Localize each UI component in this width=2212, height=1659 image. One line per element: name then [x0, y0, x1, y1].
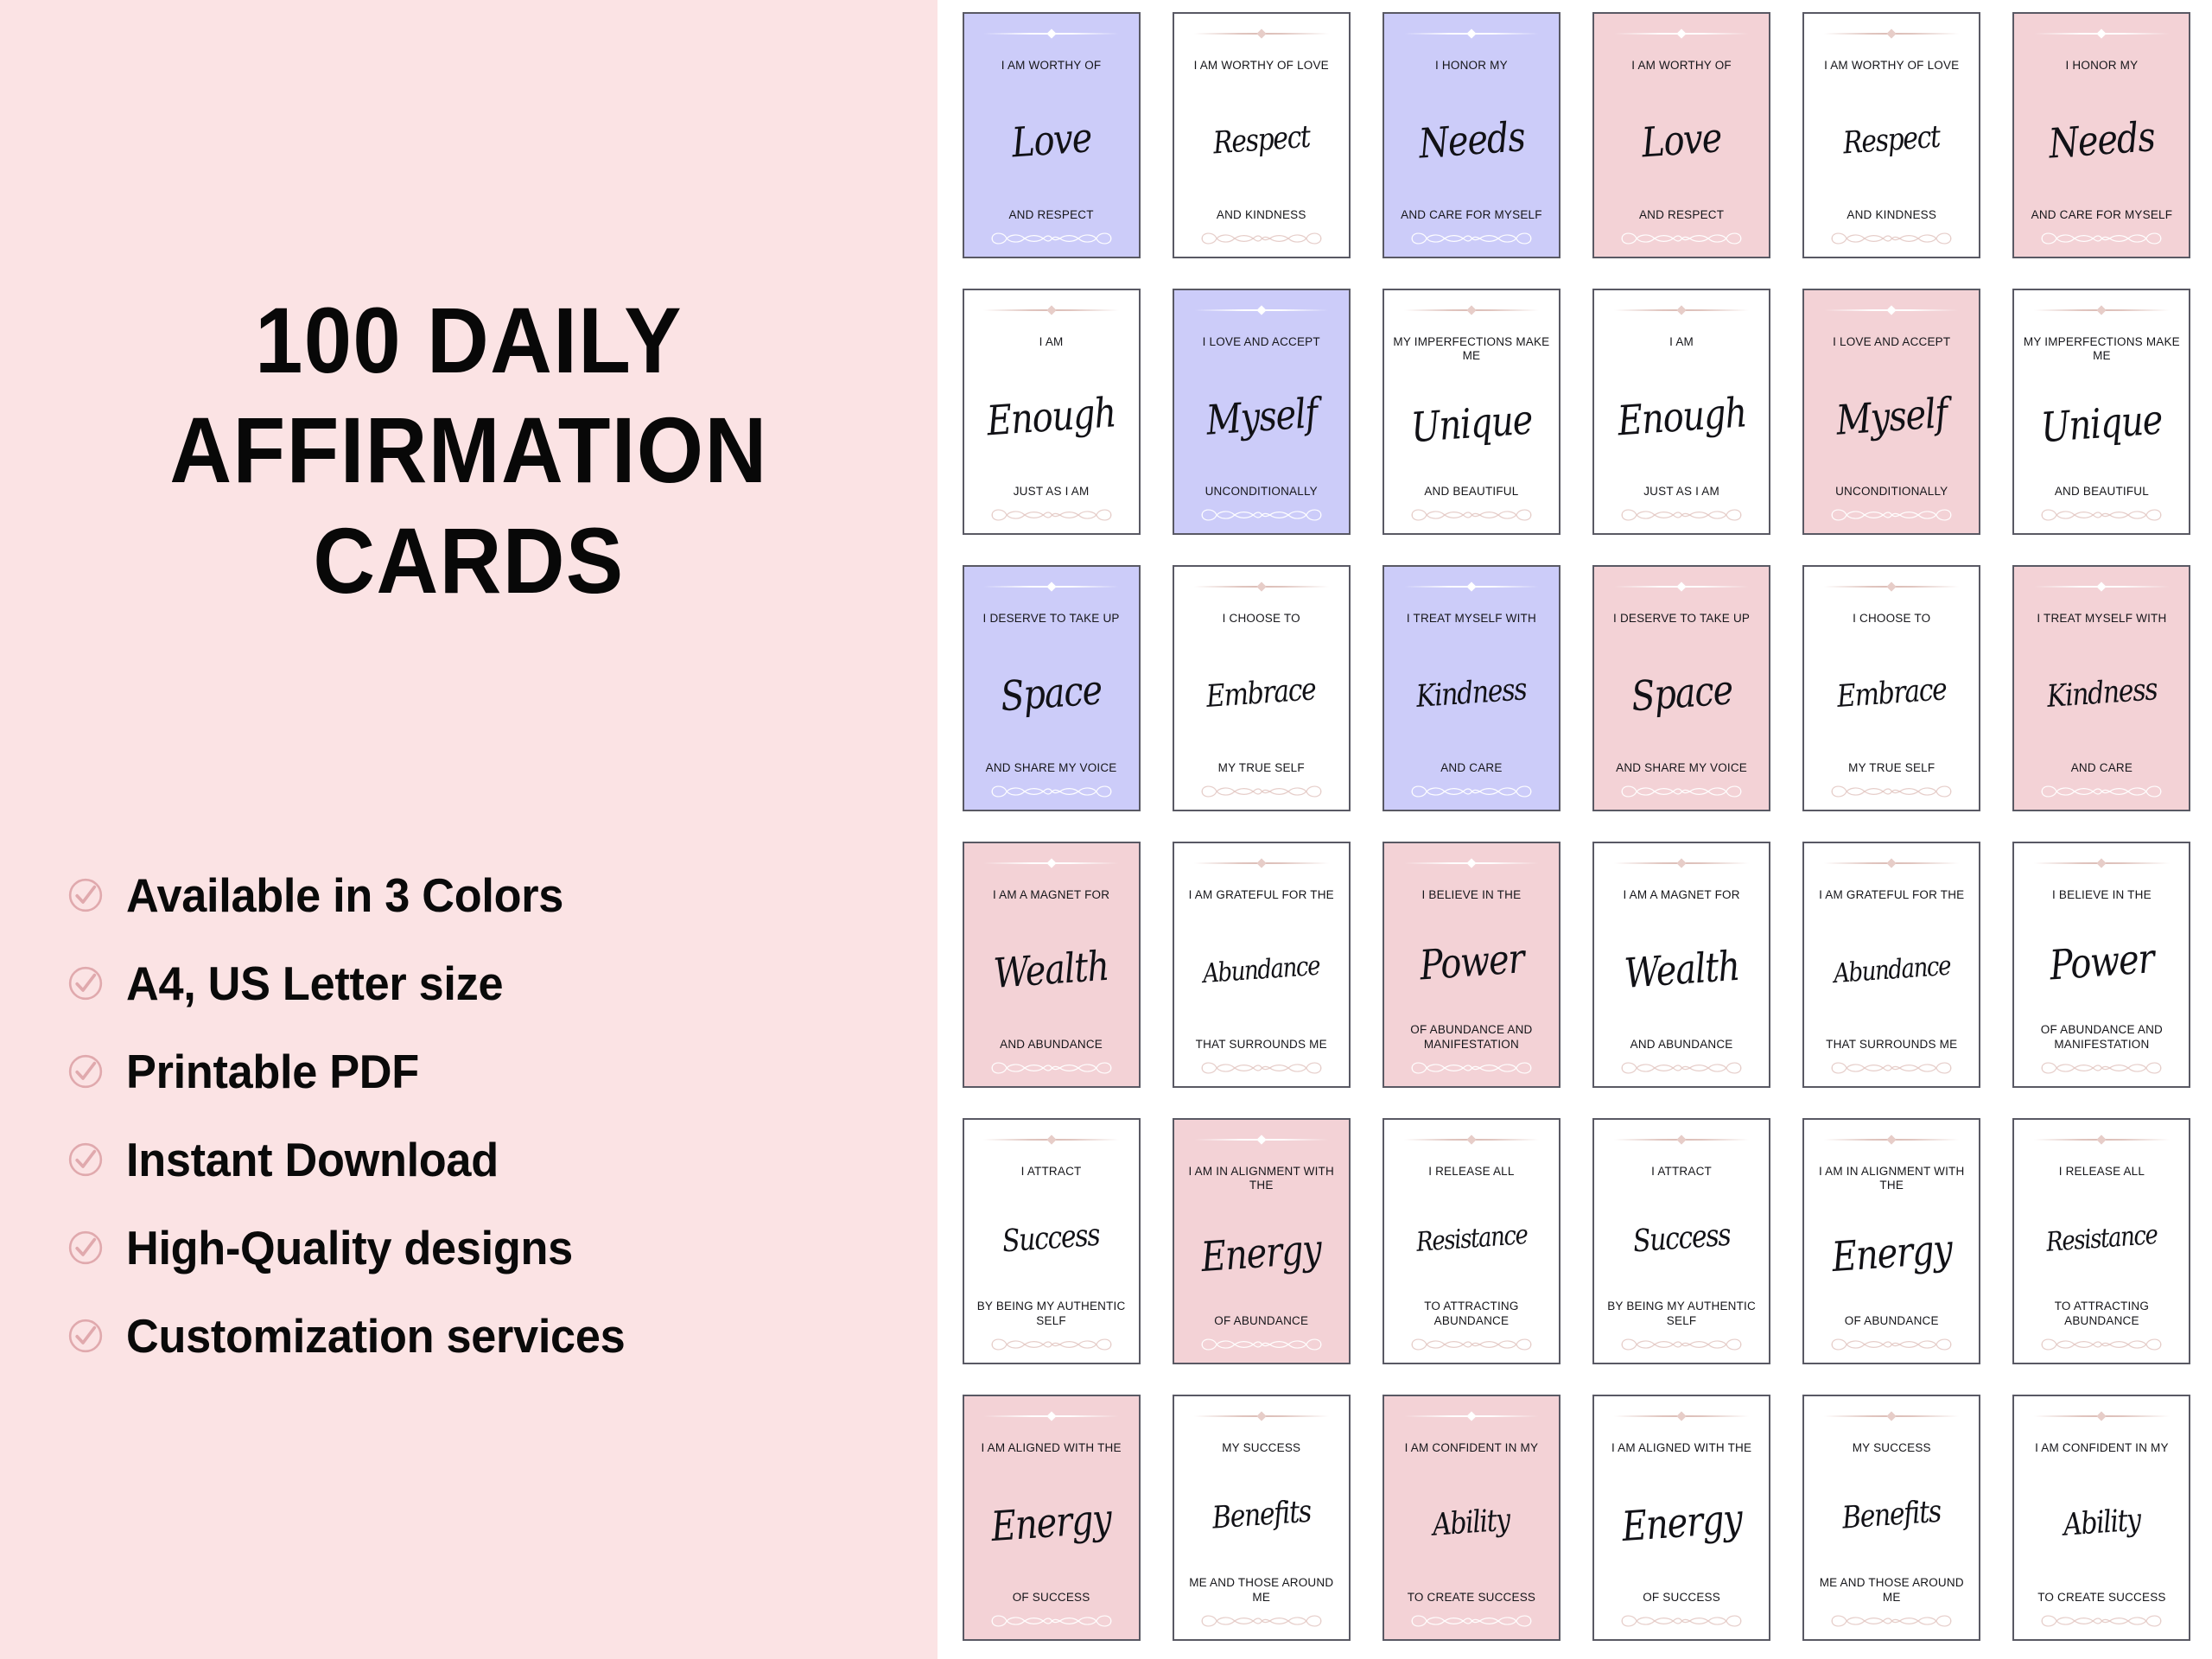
card-bottom-text: JUST AS I AM — [1601, 485, 1762, 499]
card-top-text: I AM — [971, 335, 1132, 349]
affirmation-card[interactable]: I DESERVE TO TAKE UPSpaceAND SHARE MY VO… — [1592, 565, 1770, 811]
card-top-text: I DESERVE TO TAKE UP — [971, 612, 1132, 626]
card-script-word-wrap: Needs — [1391, 73, 1552, 207]
flourish-ornament-icon — [1192, 780, 1331, 803]
page-title: 100 DAILY AFFIRMATION CARDS — [37, 285, 899, 615]
card-bottom-text: OF SUCCESS — [1601, 1591, 1762, 1605]
card-script-word-wrap: Kindness — [1391, 626, 1552, 760]
card-top-divider — [1614, 857, 1749, 869]
flourish-ornament-icon — [1192, 1333, 1331, 1356]
card-script-word-wrap: Energy — [971, 1455, 1132, 1590]
card-bottom-text: AND ABUNDANCE — [971, 1038, 1132, 1052]
flourish-ornament-icon — [1612, 1610, 1751, 1632]
card-script-word: Ability — [2063, 1505, 2141, 1541]
affirmation-card[interactable]: I AM A MAGNET FORWealthAND ABUNDANCE — [963, 842, 1141, 1088]
card-script-word-wrap: Respect — [1181, 73, 1342, 207]
affirmation-card[interactable]: I AM WORTHY OFLoveAND RESPECT — [963, 12, 1141, 258]
check-circle-icon — [67, 877, 104, 913]
diamond-icon — [1887, 582, 1897, 591]
card-top-text: I AM A MAGNET FOR — [1601, 888, 1762, 902]
card-script-word-wrap: Unique — [2021, 364, 2182, 485]
card-script-word: Unique — [1409, 399, 1533, 448]
flourish-ornament-icon — [982, 1610, 1121, 1632]
feature-item-label: High-Quality designs — [126, 1224, 573, 1272]
affirmation-card[interactable]: I AM CONFIDENT IN MYAbilityTO CREATE SUC… — [2012, 1395, 2190, 1641]
card-bottom-text: TO ATTRACTING ABUNDANCE — [2021, 1300, 2182, 1328]
diamond-icon — [1887, 29, 1897, 38]
card-script-word-wrap: Myself — [1181, 349, 1342, 484]
card-script-word: Myself — [1205, 392, 1318, 441]
diamond-icon — [1466, 1135, 1476, 1144]
card-top-divider — [1614, 304, 1749, 316]
flourish-ornament-icon — [1402, 1057, 1541, 1079]
card-top-text: MY IMPERFECTIONS MAKE ME — [1391, 335, 1552, 364]
diamond-icon — [1046, 1135, 1056, 1144]
card-bottom-text: UNCONDITIONALLY — [1811, 485, 1972, 499]
flourish-ornament-icon — [982, 227, 1121, 250]
card-script-word: Ability — [1432, 1505, 1510, 1541]
flourish-ornament-icon — [1612, 780, 1751, 803]
card-bottom-text: OF ABUNDANCE AND MANIFESTATION — [1391, 1023, 1552, 1052]
card-top-divider — [1824, 581, 1959, 593]
card-top-divider — [2034, 581, 2169, 593]
diamond-icon — [1256, 305, 1266, 315]
card-script-word: Wealth — [993, 945, 1110, 994]
card-bottom-text: OF SUCCESS — [971, 1591, 1132, 1605]
card-top-divider — [2034, 857, 2169, 869]
card-bottom-text: ME AND THOSE AROUND ME — [1811, 1576, 1972, 1605]
card-script-word: Kindness — [2046, 674, 2158, 712]
affirmation-card[interactable]: I AM GRATEFUL FOR THEAbundanceTHAT SURRO… — [1173, 842, 1351, 1088]
affirmation-card[interactable]: I RELEASE ALLResistanceTO ATTRACTING ABU… — [1382, 1118, 1560, 1364]
card-top-text: I CHOOSE TO — [1181, 612, 1342, 626]
affirmation-card[interactable]: I AM GRATEFUL FOR THEAbundanceTHAT SURRO… — [1802, 842, 1980, 1088]
card-script-word: Respect — [1212, 122, 1311, 159]
card-bottom-text: AND CARE — [2021, 761, 2182, 775]
flourish-ornament-icon — [1402, 780, 1541, 803]
card-top-text: I RELEASE ALL — [1391, 1165, 1552, 1179]
card-script-word-wrap: Space — [971, 626, 1132, 760]
card-top-text: I HONOR MY — [2021, 59, 2182, 73]
card-top-text: MY SUCCESS — [1811, 1441, 1972, 1455]
card-top-text: I AM GRATEFUL FOR THE — [1811, 888, 1972, 902]
card-script-word-wrap: Myself — [1811, 349, 1972, 484]
card-top-text: I RELEASE ALL — [2021, 1165, 2182, 1179]
card-top-divider — [2034, 304, 2169, 316]
check-circle-icon — [67, 1053, 104, 1090]
flourish-ornament-icon — [1612, 1057, 1751, 1079]
affirmation-card[interactable]: I LOVE AND ACCEPTMyselfUNCONDITIONALLY — [1173, 289, 1351, 535]
affirmation-card[interactable]: I AM ALIGNED WITH THEEnergyOF SUCCESS — [963, 1395, 1141, 1641]
affirmation-card[interactable]: I AM A MAGNET FORWealthAND ABUNDANCE — [1592, 842, 1770, 1088]
diamond-icon — [1466, 29, 1476, 38]
flourish-ornament-icon — [1612, 227, 1751, 250]
card-top-divider — [1404, 304, 1539, 316]
card-top-text: I ATTRACT — [971, 1165, 1132, 1179]
affirmation-card[interactable]: MY SUCCESSBenefitsME AND THOSE AROUND ME — [1173, 1395, 1351, 1641]
card-top-divider — [2034, 28, 2169, 40]
card-bottom-text: JUST AS I AM — [971, 485, 1132, 499]
card-script-word: Myself — [1835, 392, 1948, 441]
flourish-ornament-icon — [982, 504, 1121, 526]
card-top-divider — [2034, 1410, 2169, 1422]
card-top-divider — [1824, 1134, 1959, 1146]
card-script-word: Energy — [1620, 1498, 1743, 1548]
card-script-word: Benefits — [1211, 1497, 1312, 1535]
card-script-word-wrap: Power — [2021, 902, 2182, 1023]
card-script-word-wrap: Power — [1391, 902, 1552, 1023]
card-script-word-wrap: Success — [1601, 1179, 1762, 1300]
feature-item: Customization services — [67, 1292, 897, 1380]
card-script-word: Enough — [986, 392, 1117, 442]
flourish-ornament-icon — [982, 1333, 1121, 1356]
promo-panel: 100 DAILY AFFIRMATION CARDS Available in… — [0, 0, 938, 1659]
affirmation-card[interactable]: I TREAT MYSELF WITHKindnessAND CARE — [2012, 565, 2190, 811]
card-top-text: I TREAT MYSELF WITH — [2021, 612, 2182, 626]
diamond-icon — [1466, 1411, 1476, 1421]
flourish-ornament-icon — [1402, 1610, 1541, 1632]
card-top-divider — [1404, 1410, 1539, 1422]
diamond-icon — [1466, 858, 1476, 868]
diamond-icon — [2097, 305, 2107, 315]
card-bottom-text: MY TRUE SELF — [1811, 761, 1972, 775]
card-top-text: I AM WORTHY OF LOVE — [1181, 59, 1342, 73]
card-script-word-wrap: Resistance — [2021, 1179, 2182, 1300]
affirmation-card[interactable]: I RELEASE ALLResistanceTO ATTRACTING ABU… — [2012, 1118, 2190, 1364]
card-top-text: I AM IN ALIGNMENT WITH THE — [1811, 1165, 1972, 1193]
card-top-divider — [1824, 28, 1959, 40]
flourish-ornament-icon — [1822, 780, 1961, 803]
card-bottom-text: UNCONDITIONALLY — [1181, 485, 1342, 499]
card-script-word-wrap: Embrace — [1811, 626, 1972, 760]
card-bottom-text: ME AND THOSE AROUND ME — [1181, 1576, 1342, 1605]
affirmation-card[interactable]: I BELIEVE IN THEPowerOF ABUNDANCE AND MA… — [2012, 842, 2190, 1088]
flourish-ornament-icon — [2032, 1333, 2171, 1356]
card-top-text: I AM WORTHY OF — [971, 59, 1132, 73]
card-top-divider — [1194, 1410, 1329, 1422]
card-script-word-wrap: Energy — [1601, 1455, 1762, 1590]
diamond-icon — [1676, 1411, 1686, 1421]
card-bottom-text: AND CARE FOR MYSELF — [2021, 208, 2182, 222]
card-script-word: Power — [2049, 939, 2155, 987]
feature-item-label: A4, US Letter size — [126, 960, 503, 1007]
card-script-word: Energy — [1830, 1229, 1953, 1278]
card-top-divider — [1824, 1410, 1959, 1422]
diamond-icon — [1887, 1135, 1897, 1144]
feature-item: Instant Download — [67, 1116, 897, 1204]
diamond-icon — [1887, 305, 1897, 315]
card-script-word-wrap: Abundance — [1181, 902, 1342, 1037]
diamond-icon — [1676, 29, 1686, 38]
title-line-3: CARDS — [76, 505, 862, 615]
card-script-word-wrap: Enough — [971, 349, 1132, 484]
affirmation-card[interactable]: MY IMPERFECTIONS MAKE MEUniqueAND BEAUTI… — [1382, 289, 1560, 535]
card-script-word: Kindness — [1415, 674, 1527, 712]
diamond-icon — [1676, 858, 1686, 868]
card-top-divider — [1614, 28, 1749, 40]
flourish-ornament-icon — [1822, 227, 1961, 250]
card-bottom-text: OF ABUNDANCE — [1811, 1314, 1972, 1328]
card-top-divider — [1404, 581, 1539, 593]
affirmation-card[interactable]: I AM WORTHY OF LOVERespectAND KINDNESS — [1173, 12, 1351, 258]
card-top-divider — [983, 1134, 1118, 1146]
flourish-ornament-icon — [1192, 1610, 1331, 1632]
card-top-text: I AM CONFIDENT IN MY — [2021, 1441, 2182, 1455]
feature-list: Available in 3 ColorsA4, US Letter sizeP… — [67, 851, 897, 1380]
card-top-divider — [1824, 857, 1959, 869]
card-bottom-text: THAT SURROUNDS ME — [1811, 1038, 1972, 1052]
card-script-word-wrap: Enough — [1601, 349, 1762, 484]
card-script-word-wrap: Space — [1601, 626, 1762, 760]
card-top-text: I AM GRATEFUL FOR THE — [1181, 888, 1342, 902]
card-script-word-wrap: Wealth — [1601, 902, 1762, 1037]
card-grid: I AM WORTHY OFLoveAND RESPECTI AM WORTHY… — [957, 12, 2196, 1647]
card-script-word-wrap: Benefits — [1811, 1455, 1972, 1576]
card-script-word: Energy — [1200, 1229, 1323, 1278]
affirmation-card[interactable]: I ATTRACTSuccessBY BEING MY AUTHENTIC SE… — [1592, 1118, 1770, 1364]
card-script-word: Enough — [1616, 392, 1747, 442]
feature-item: A4, US Letter size — [67, 939, 897, 1027]
feature-item-label: Printable PDF — [126, 1048, 419, 1096]
card-script-word-wrap: Energy — [1181, 1193, 1342, 1314]
flourish-ornament-icon — [2032, 227, 2171, 250]
card-bottom-text: AND RESPECT — [1601, 208, 1762, 222]
card-script-word: Energy — [990, 1498, 1113, 1548]
flourish-ornament-icon — [982, 1057, 1121, 1079]
affirmation-card[interactable]: I CHOOSE TOEmbraceMY TRUE SELF — [1173, 565, 1351, 811]
card-script-word-wrap: Love — [971, 73, 1132, 207]
card-bottom-text: TO CREATE SUCCESS — [1391, 1591, 1552, 1605]
card-top-text: I AM CONFIDENT IN MY — [1391, 1441, 1552, 1455]
affirmation-card[interactable]: I AM WORTHY OF LOVERespectAND KINDNESS — [1802, 12, 1980, 258]
card-script-word-wrap: Resistance — [1391, 1179, 1552, 1300]
card-bottom-text: AND BEAUTIFUL — [1391, 485, 1552, 499]
check-circle-icon — [67, 965, 104, 1001]
card-top-divider — [1194, 304, 1329, 316]
card-top-divider — [1194, 28, 1329, 40]
card-top-divider — [1614, 1134, 1749, 1146]
card-top-divider — [1614, 581, 1749, 593]
affirmation-cards-listing: 100 DAILY AFFIRMATION CARDS Available in… — [0, 0, 2212, 1659]
card-top-text: I LOVE AND ACCEPT — [1811, 335, 1972, 349]
diamond-icon — [1256, 1411, 1266, 1421]
card-top-text: I AM WORTHY OF LOVE — [1811, 59, 1972, 73]
flourish-ornament-icon — [2032, 780, 2171, 803]
card-top-text: I BELIEVE IN THE — [1391, 888, 1552, 902]
flourish-ornament-icon — [1402, 1333, 1541, 1356]
card-script-word: Success — [1632, 1221, 1731, 1258]
affirmation-card[interactable]: MY IMPERFECTIONS MAKE MEUniqueAND BEAUTI… — [2012, 289, 2190, 535]
card-top-text: MY SUCCESS — [1181, 1441, 1342, 1455]
card-bottom-text: AND KINDNESS — [1811, 208, 1972, 222]
affirmation-card[interactable]: I DESERVE TO TAKE UPSpaceAND SHARE MY VO… — [963, 565, 1141, 811]
card-top-text: I AM — [1601, 335, 1762, 349]
card-script-word-wrap: Needs — [2021, 73, 2182, 207]
card-script-word-wrap: Success — [971, 1179, 1132, 1300]
card-script-word-wrap: Ability — [1391, 1455, 1552, 1590]
flourish-ornament-icon — [1612, 504, 1751, 526]
card-top-text: I AM IN ALIGNMENT WITH THE — [1181, 1165, 1342, 1193]
card-script-word-wrap: Kindness — [2021, 626, 2182, 760]
card-top-text: I AM ALIGNED WITH THE — [971, 1441, 1132, 1455]
affirmation-card[interactable]: I AM IN ALIGNMENT WITH THEEnergyOF ABUND… — [1802, 1118, 1980, 1364]
card-top-divider — [983, 581, 1118, 593]
affirmation-card[interactable]: I AM CONFIDENT IN MYAbilityTO CREATE SUC… — [1382, 1395, 1560, 1641]
affirmation-card[interactable]: I TREAT MYSELF WITHKindnessAND CARE — [1382, 565, 1560, 811]
flourish-ornament-icon — [1192, 1057, 1331, 1079]
flourish-ornament-icon — [2032, 1610, 2171, 1632]
affirmation-card[interactable]: I AMEnoughJUST AS I AM — [1592, 289, 1770, 535]
card-script-word: Resistance — [1415, 1222, 1528, 1256]
card-bottom-text: AND SHARE MY VOICE — [1601, 761, 1762, 775]
flourish-ornament-icon — [982, 780, 1121, 803]
flourish-ornament-icon — [2032, 1057, 2171, 1079]
diamond-icon — [1676, 582, 1686, 591]
card-top-text: I BELIEVE IN THE — [2021, 888, 2182, 902]
card-bottom-text: AND CARE FOR MYSELF — [1391, 208, 1552, 222]
feature-item-label: Customization services — [126, 1313, 625, 1360]
card-bottom-text: MY TRUE SELF — [1181, 761, 1342, 775]
card-top-text: I DESERVE TO TAKE UP — [1601, 612, 1762, 626]
diamond-icon — [1887, 858, 1897, 868]
card-bottom-text: AND ABUNDANCE — [1601, 1038, 1762, 1052]
card-script-word: Abundance — [1833, 952, 1951, 987]
diamond-icon — [2097, 1135, 2107, 1144]
card-top-text: I CHOOSE TO — [1811, 612, 1972, 626]
card-script-word: Love — [1010, 118, 1092, 164]
card-bottom-text: OF ABUNDANCE AND MANIFESTATION — [2021, 1023, 2182, 1052]
flourish-ornament-icon — [1822, 1057, 1961, 1079]
card-top-text: I AM ALIGNED WITH THE — [1601, 1441, 1762, 1455]
affirmation-card[interactable]: I AMEnoughJUST AS I AM — [963, 289, 1141, 535]
diamond-icon — [1046, 305, 1056, 315]
card-script-word-wrap: Respect — [1811, 73, 1972, 207]
affirmation-card[interactable]: I HONOR MYNeedsAND CARE FOR MYSELF — [2012, 12, 2190, 258]
card-bottom-text: BY BEING MY AUTHENTIC SELF — [1601, 1300, 1762, 1328]
card-top-text: I TREAT MYSELF WITH — [1391, 612, 1552, 626]
diamond-icon — [2097, 582, 2107, 591]
affirmation-card[interactable]: I AM IN ALIGNMENT WITH THEEnergyOF ABUND… — [1173, 1118, 1351, 1364]
card-script-word-wrap: Wealth — [971, 902, 1132, 1037]
diamond-icon — [1046, 29, 1056, 38]
card-top-divider — [1824, 304, 1959, 316]
card-top-divider — [1404, 28, 1539, 40]
diamond-icon — [1046, 1411, 1056, 1421]
diamond-icon — [2097, 858, 2107, 868]
card-top-text: I AM A MAGNET FOR — [971, 888, 1132, 902]
card-script-word-wrap: Energy — [1811, 1193, 1972, 1314]
card-script-word: Space — [1000, 670, 1103, 717]
affirmation-card[interactable]: I AM ALIGNED WITH THEEnergyOF SUCCESS — [1592, 1395, 1770, 1641]
card-script-word: Embrace — [1836, 674, 1948, 712]
check-circle-icon — [67, 1141, 104, 1178]
card-script-word-wrap: Unique — [1391, 364, 1552, 485]
diamond-icon — [1256, 1135, 1266, 1144]
affirmation-card[interactable]: I BELIEVE IN THEPowerOF ABUNDANCE AND MA… — [1382, 842, 1560, 1088]
card-script-word: Embrace — [1205, 674, 1317, 712]
affirmation-card[interactable]: MY SUCCESSBenefitsME AND THOSE AROUND ME — [1802, 1395, 1980, 1641]
card-top-text: I ATTRACT — [1601, 1165, 1762, 1179]
card-top-divider — [983, 28, 1118, 40]
flourish-ornament-icon — [1822, 504, 1961, 526]
card-top-divider — [983, 304, 1118, 316]
card-script-word-wrap: Ability — [2021, 1455, 2182, 1590]
card-script-word: Needs — [1417, 117, 1525, 165]
card-top-divider — [2034, 1134, 2169, 1146]
card-bottom-text: BY BEING MY AUTHENTIC SELF — [971, 1300, 1132, 1328]
feature-item-label: Available in 3 Colors — [126, 872, 563, 919]
card-bottom-text: AND RESPECT — [971, 208, 1132, 222]
affirmation-card[interactable]: I HONOR MYNeedsAND CARE FOR MYSELF — [1382, 12, 1560, 258]
card-script-word-wrap: Abundance — [1811, 902, 1972, 1037]
diamond-icon — [2097, 1411, 2107, 1421]
card-top-text: I HONOR MY — [1391, 59, 1552, 73]
card-script-word: Unique — [2040, 399, 2164, 448]
flourish-ornament-icon — [1192, 227, 1331, 250]
card-bottom-text: AND SHARE MY VOICE — [971, 761, 1132, 775]
card-script-word: Benefits — [1841, 1497, 1942, 1535]
card-script-word: Power — [1418, 939, 1524, 987]
card-script-word-wrap: Love — [1601, 73, 1762, 207]
flourish-ornament-icon — [2032, 504, 2171, 526]
card-bottom-text: THAT SURROUNDS ME — [1181, 1038, 1342, 1052]
card-bottom-text: AND BEAUTIFUL — [2021, 485, 2182, 499]
diamond-icon — [1046, 582, 1056, 591]
affirmation-card[interactable]: I LOVE AND ACCEPTMyselfUNCONDITIONALLY — [1802, 289, 1980, 535]
diamond-icon — [1676, 305, 1686, 315]
feature-item-label: Instant Download — [126, 1136, 499, 1184]
flourish-ornament-icon — [1822, 1333, 1961, 1356]
card-script-word: Success — [1001, 1221, 1100, 1258]
diamond-icon — [1256, 29, 1266, 38]
card-script-word: Love — [1640, 118, 1722, 164]
card-bottom-text: TO ATTRACTING ABUNDANCE — [1391, 1300, 1552, 1328]
diamond-icon — [1676, 1135, 1686, 1144]
diamond-icon — [1887, 1411, 1897, 1421]
card-script-word: Respect — [1842, 122, 1941, 159]
feature-item: Available in 3 Colors — [67, 851, 897, 939]
card-script-word: Resistance — [2045, 1222, 2158, 1256]
card-script-word: Needs — [2048, 117, 2156, 165]
card-script-word: Wealth — [1623, 945, 1740, 994]
diamond-icon — [1466, 582, 1476, 591]
card-top-text: I LOVE AND ACCEPT — [1181, 335, 1342, 349]
flourish-ornament-icon — [1822, 1610, 1961, 1632]
diamond-icon — [1256, 858, 1266, 868]
card-top-divider — [1404, 857, 1539, 869]
flourish-ornament-icon — [1402, 504, 1541, 526]
card-top-text: I AM WORTHY OF — [1601, 59, 1762, 73]
card-preview-panel: I AM WORTHY OFLoveAND RESPECTI AM WORTHY… — [938, 0, 2212, 1659]
affirmation-card[interactable]: I AM WORTHY OFLoveAND RESPECT — [1592, 12, 1770, 258]
card-top-divider — [1194, 1134, 1329, 1146]
flourish-ornament-icon — [1192, 504, 1331, 526]
feature-item: High-Quality designs — [67, 1204, 897, 1292]
title-line-2: AFFIRMATION — [76, 395, 862, 505]
card-top-divider — [983, 857, 1118, 869]
card-script-word: Space — [1630, 670, 1733, 717]
affirmation-card[interactable]: I ATTRACTSuccessBY BEING MY AUTHENTIC SE… — [963, 1118, 1141, 1364]
flourish-ornament-icon — [1402, 227, 1541, 250]
check-circle-icon — [67, 1230, 104, 1266]
card-top-text: MY IMPERFECTIONS MAKE ME — [2021, 335, 2182, 364]
check-circle-icon — [67, 1318, 104, 1354]
card-bottom-text: AND CARE — [1391, 761, 1552, 775]
title-line-1: 100 DAILY — [76, 285, 862, 395]
diamond-icon — [1046, 858, 1056, 868]
card-script-word-wrap: Benefits — [1181, 1455, 1342, 1576]
affirmation-card[interactable]: I CHOOSE TOEmbraceMY TRUE SELF — [1802, 565, 1980, 811]
